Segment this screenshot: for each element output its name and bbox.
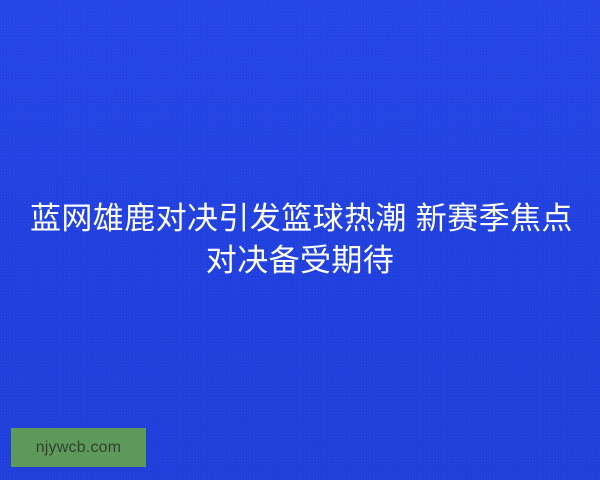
watermark-label: njywcb.com bbox=[36, 440, 122, 456]
headline-block: 蓝网雄鹿对决引发篮球热潮 新赛季焦点 对决备受期待 bbox=[0, 198, 600, 282]
headline-line-2: 对决备受期待 bbox=[30, 240, 570, 282]
news-cover-card: 蓝网雄鹿对决引发篮球热潮 新赛季焦点 对决备受期待 njywcb.com bbox=[0, 0, 600, 480]
headline-line-1: 蓝网雄鹿对决引发篮球热潮 新赛季焦点 bbox=[30, 198, 570, 240]
watermark-badge: njywcb.com bbox=[11, 428, 146, 467]
